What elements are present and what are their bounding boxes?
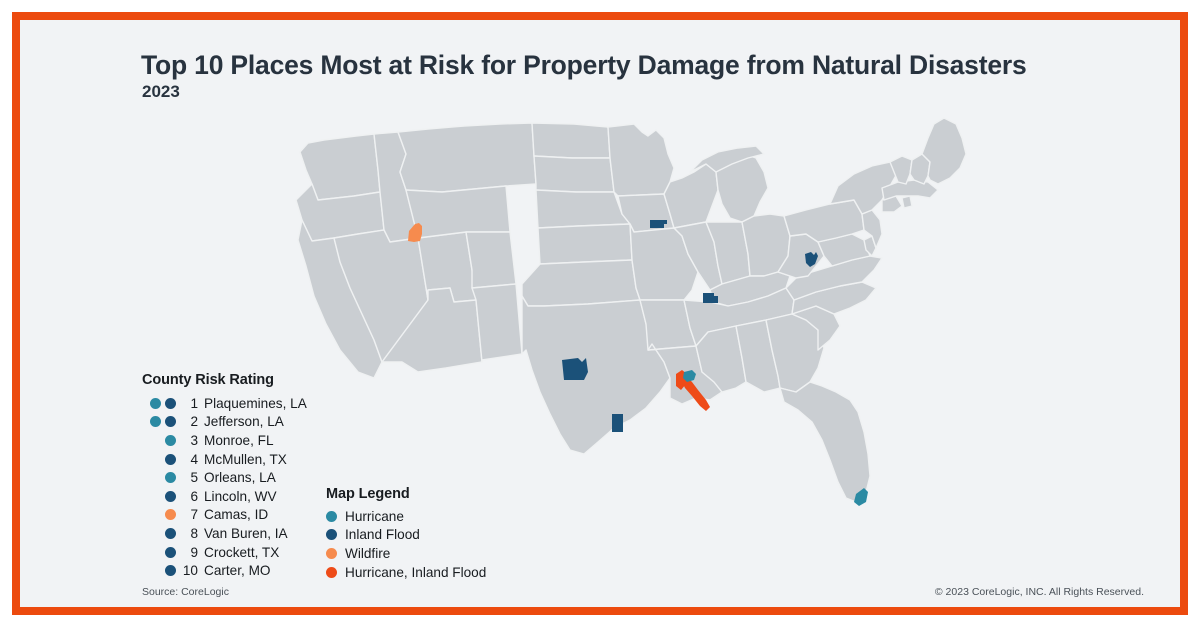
state-nd — [532, 123, 610, 158]
county-name-label: McMullen, TX — [204, 452, 287, 467]
state-ks — [538, 224, 632, 264]
county-rank-number: 5 — [176, 470, 204, 485]
map-legend-label: Hurricane, Inland Flood — [345, 565, 486, 580]
state-me — [922, 118, 966, 184]
page-subtitle: 2023 — [142, 82, 180, 102]
map-legend-heading: Map Legend — [326, 486, 586, 502]
state-mn — [608, 124, 674, 196]
state-ok — [522, 260, 640, 306]
hazard-dot-inland-flood-icon — [165, 491, 176, 502]
page-title: Top 10 Places Most at Risk for Property … — [141, 50, 1081, 81]
county-rank-number: 2 — [176, 414, 204, 429]
legend-dot-wildfire-icon — [326, 548, 337, 559]
poster-frame: Top 10 Places Most at Risk for Property … — [12, 12, 1188, 615]
county-name-label: Camas, ID — [204, 507, 268, 522]
county-risk-row: 3Monroe, FL — [142, 431, 357, 450]
state-fl — [780, 382, 870, 502]
county-risk-hazard-dots — [142, 454, 176, 465]
county-risk-row: 5Orleans, LA — [142, 468, 357, 487]
county-risk-row: 7Camas, ID — [142, 506, 357, 525]
county-rank-number: 1 — [176, 396, 204, 411]
county-risk-row: 6Lincoln, WV — [142, 487, 357, 506]
county-name-label: Jefferson, LA — [204, 414, 284, 429]
map-legend-label: Inland Flood — [345, 527, 420, 542]
hazard-dot-hurricane-icon — [150, 398, 161, 409]
hazard-dot-hurricane-icon — [150, 416, 161, 427]
map-legend-label: Wildfire — [345, 546, 390, 561]
hazard-dot-hurricane-icon — [165, 435, 176, 446]
legend-dot-inland-flood-icon — [326, 529, 337, 540]
map-legend-row: Inland Flood — [326, 526, 586, 545]
county-name-label: Van Buren, IA — [204, 526, 288, 541]
county-name-label: Monroe, FL — [204, 433, 274, 448]
poster: Top 10 Places Most at Risk for Property … — [0, 0, 1200, 627]
map-legend-row: Hurricane — [326, 507, 586, 526]
footer-source: Source: CoreLogic — [142, 586, 229, 598]
hazard-dot-inland-flood-icon — [165, 565, 176, 576]
marker-mcmullen-tx — [612, 414, 623, 432]
county-rank-number: 6 — [176, 489, 204, 504]
county-rank-number: 7 — [176, 507, 204, 522]
county-risk-rating-heading: County Risk Rating — [142, 372, 357, 388]
state-mt — [398, 123, 536, 192]
legend-dot-hurricane-icon — [326, 511, 337, 522]
hazard-dot-inland-flood-icon — [165, 547, 176, 558]
county-rank-number: 4 — [176, 452, 204, 467]
county-risk-hazard-dots — [142, 528, 176, 539]
state-co — [466, 232, 516, 288]
county-name-label: Orleans, LA — [204, 470, 276, 485]
county-risk-hazard-dots — [142, 398, 176, 409]
legend-dot-hurricane-inland-flood-icon — [326, 567, 337, 578]
map-legend-panel: Map Legend HurricaneInland FloodWildfire… — [326, 486, 586, 581]
county-risk-hazard-dots — [142, 547, 176, 558]
county-risk-rating-list: 1Plaquemines, LA2Jefferson, LA3Monroe, F… — [142, 394, 357, 580]
county-risk-row: 9Crockett, TX — [142, 543, 357, 562]
poster-canvas: Top 10 Places Most at Risk for Property … — [20, 20, 1184, 607]
state-ne — [536, 190, 630, 228]
county-risk-row: 2Jefferson, LA — [142, 413, 357, 432]
county-rank-number: 3 — [176, 433, 204, 448]
county-risk-hazard-dots — [142, 416, 176, 427]
county-risk-hazard-dots — [142, 435, 176, 446]
county-risk-row: 10Carter, MO — [142, 561, 357, 580]
hazard-dot-inland-flood-icon — [165, 398, 176, 409]
county-rank-number: 10 — [176, 563, 204, 578]
hazard-dot-hurricane-icon — [165, 472, 176, 483]
county-risk-hazard-dots — [142, 509, 176, 520]
county-risk-hazard-dots — [142, 565, 176, 576]
county-name-label: Plaquemines, LA — [204, 396, 307, 411]
map-states-layer — [296, 118, 966, 502]
map-legend-row: Wildfire — [326, 544, 586, 563]
county-risk-rating-panel: County Risk Rating 1Plaquemines, LA2Jeff… — [142, 372, 357, 580]
map-legend-row: Hurricane, Inland Flood — [326, 563, 586, 582]
county-name-label: Carter, MO — [204, 563, 270, 578]
county-rank-number: 9 — [176, 545, 204, 560]
county-name-label: Crockett, TX — [204, 545, 279, 560]
marker-crockett-tx — [562, 358, 588, 380]
hazard-dot-inland-flood-icon — [165, 454, 176, 465]
hazard-dot-inland-flood-icon — [165, 528, 176, 539]
county-risk-row: 8Van Buren, IA — [142, 524, 357, 543]
county-risk-row: 1Plaquemines, LA — [142, 394, 357, 413]
state-ri — [902, 196, 912, 208]
map-legend-label: Hurricane — [345, 509, 404, 524]
county-risk-hazard-dots — [142, 491, 176, 502]
county-risk-row: 4McMullen, TX — [142, 450, 357, 469]
hazard-dot-inland-flood-icon — [165, 416, 176, 427]
county-risk-hazard-dots — [142, 472, 176, 483]
state-sd — [534, 156, 614, 192]
hazard-dot-wildfire-icon — [165, 509, 176, 520]
county-name-label: Lincoln, WV — [204, 489, 277, 504]
footer-copyright: © 2023 CoreLogic, INC. All Rights Reserv… — [935, 586, 1144, 598]
county-rank-number: 8 — [176, 526, 204, 541]
map-legend-list: HurricaneInland FloodWildfireHurricane, … — [326, 507, 586, 581]
